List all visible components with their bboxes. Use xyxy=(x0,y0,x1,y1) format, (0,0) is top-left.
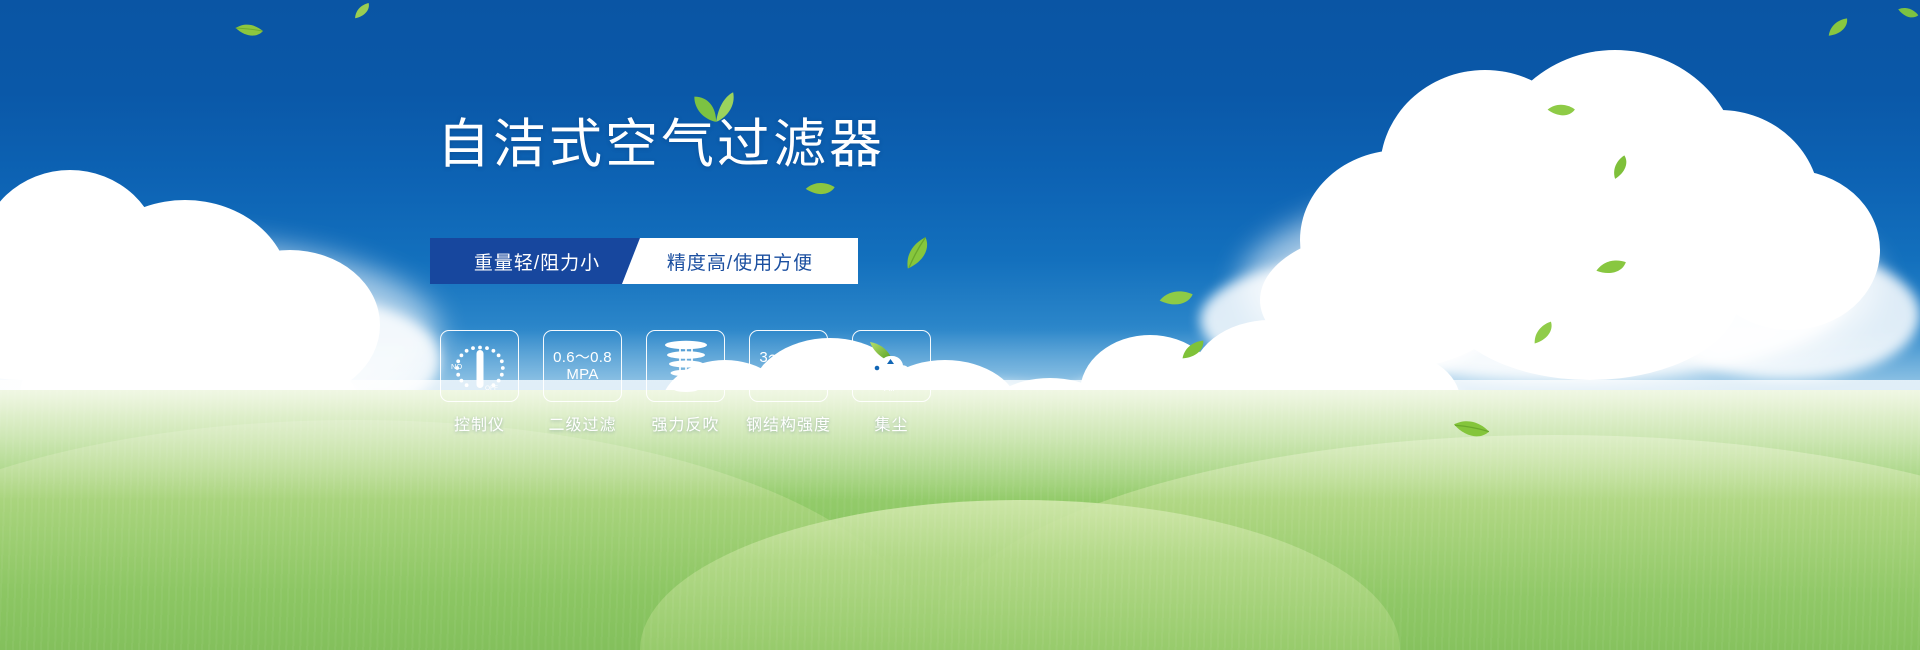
tagline-item-1: 重量轻/阻力小 xyxy=(430,238,640,284)
banner-content: 自洁式空气过滤器 重量轻/阻力小 精度高/使用方便 xyxy=(0,0,1920,650)
control-dial-icon: NO OFF xyxy=(449,337,511,395)
hero-banner: 自洁式空气过滤器 重量轻/阻力小 精度高/使用方便 xyxy=(0,0,1920,650)
feature-item-blowback: 强力反吹 xyxy=(646,330,725,435)
feature-box-blowback xyxy=(646,330,725,402)
feature-box-dust: Air xyxy=(852,330,931,402)
feature-label-blowback: 强力反吹 xyxy=(651,411,719,435)
pressure-line-2: MPA xyxy=(553,366,612,383)
feature-item-steel: 3～8MM 钢板 钢结构强度 xyxy=(749,330,828,435)
feature-item-control: NO OFF 控制仪 xyxy=(440,330,519,435)
steel-line-2: 钢板 xyxy=(759,366,817,383)
feature-label-pressure: 二级过滤 xyxy=(548,411,616,435)
feature-item-pressure: 0.6～0.8 MPA 二级过滤 xyxy=(543,330,622,435)
air-cloud-icon: Air xyxy=(860,338,924,394)
feature-box-pressure: 0.6～0.8 MPA xyxy=(543,330,622,402)
steel-plate-value-icon: 3～8MM 钢板 xyxy=(759,349,817,384)
tagline-item-2: 精度高/使用方便 xyxy=(622,238,858,284)
tagline-group: 重量轻/阻力小 精度高/使用方便 xyxy=(430,238,858,284)
feature-item-dust: Air 集尘 xyxy=(852,330,931,435)
pressure-value-icon: 0.6～0.8 MPA xyxy=(553,349,612,384)
svg-text:OFF: OFF xyxy=(485,385,498,392)
filter-coil-icon xyxy=(658,337,714,395)
steel-line-1: 3～8MM xyxy=(759,349,817,366)
feature-label-steel: 钢结构强度 xyxy=(746,411,831,435)
svg-text:Air: Air xyxy=(884,383,896,394)
pressure-line-1: 0.6～0.8 xyxy=(553,349,612,366)
svg-text:NO: NO xyxy=(451,362,462,371)
page-title: 自洁式空气过滤器 xyxy=(437,118,885,171)
feature-label-control: 控制仪 xyxy=(454,411,505,435)
feature-label-dust: 集尘 xyxy=(874,411,908,435)
feature-box-control: NO OFF xyxy=(440,330,519,402)
feature-list: NO OFF 控制仪 0.6～0.8 MPA 二级过滤 xyxy=(440,330,931,435)
feature-box-steel: 3～8MM 钢板 xyxy=(749,330,828,402)
